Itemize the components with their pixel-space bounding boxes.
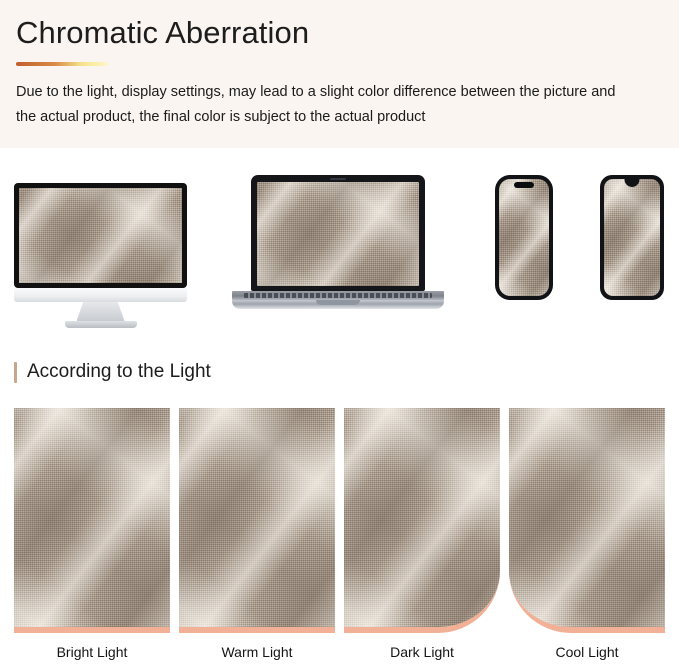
swatch-item: Warm Light bbox=[179, 408, 335, 661]
monitor-screen-image bbox=[19, 188, 182, 283]
laptop-camera-icon bbox=[330, 178, 346, 181]
phone-dynamic-island-mockup bbox=[495, 175, 553, 300]
dynamic-island-icon bbox=[514, 182, 534, 188]
laptop-screen-image bbox=[257, 182, 419, 286]
swatch-item: Cool Light bbox=[509, 408, 665, 661]
laptop-keyboard-deck bbox=[232, 291, 444, 300]
swatch-image bbox=[509, 408, 665, 633]
laptop-base bbox=[232, 300, 444, 309]
fabric-texture bbox=[344, 408, 500, 627]
laptop-lid bbox=[251, 175, 425, 291]
monitor-stand-neck bbox=[77, 302, 125, 321]
swatch-item: Dark Light bbox=[344, 408, 500, 661]
header-description: Due to the light, display settings, may … bbox=[16, 80, 631, 130]
fabric-texture bbox=[179, 408, 335, 627]
phone-body bbox=[495, 175, 553, 300]
section-title: According to the Light bbox=[27, 360, 211, 384]
swatch-image bbox=[179, 408, 335, 633]
fabric-texture bbox=[509, 408, 665, 627]
accent-bar-icon bbox=[14, 362, 17, 383]
swatch-image bbox=[14, 408, 170, 633]
monitor-chin bbox=[14, 288, 187, 302]
swatch-image bbox=[344, 408, 500, 633]
desktop-monitor-mockup bbox=[14, 183, 187, 328]
fabric-texture bbox=[14, 408, 170, 627]
phone-screen-image bbox=[604, 179, 660, 296]
section-heading: According to the Light bbox=[14, 360, 211, 384]
chromatic-aberration-page: Chromatic Aberration Due to the light, d… bbox=[0, 0, 679, 667]
page-title: Chromatic Aberration bbox=[16, 12, 663, 54]
phone-teardrop-notch-mockup bbox=[600, 175, 664, 300]
light-swatch-row: Bright Light Warm Light Dark Light Cool … bbox=[0, 408, 679, 667]
laptop-mockup bbox=[232, 175, 444, 309]
device-mockup-row bbox=[0, 148, 679, 348]
title-gradient-rule bbox=[16, 62, 108, 66]
swatch-label: Warm Light bbox=[179, 643, 335, 661]
laptop-trackpad-notch bbox=[316, 300, 360, 305]
phone-body bbox=[600, 175, 664, 300]
monitor-screen-bezel bbox=[14, 183, 187, 288]
phone-screen-image bbox=[499, 179, 549, 296]
header-banner: Chromatic Aberration Due to the light, d… bbox=[0, 0, 679, 148]
swatch-label: Dark Light bbox=[344, 643, 500, 661]
swatch-label: Cool Light bbox=[509, 643, 665, 661]
swatch-label: Bright Light bbox=[14, 643, 170, 661]
monitor-stand-base bbox=[65, 321, 137, 328]
swatch-item: Bright Light bbox=[14, 408, 170, 661]
